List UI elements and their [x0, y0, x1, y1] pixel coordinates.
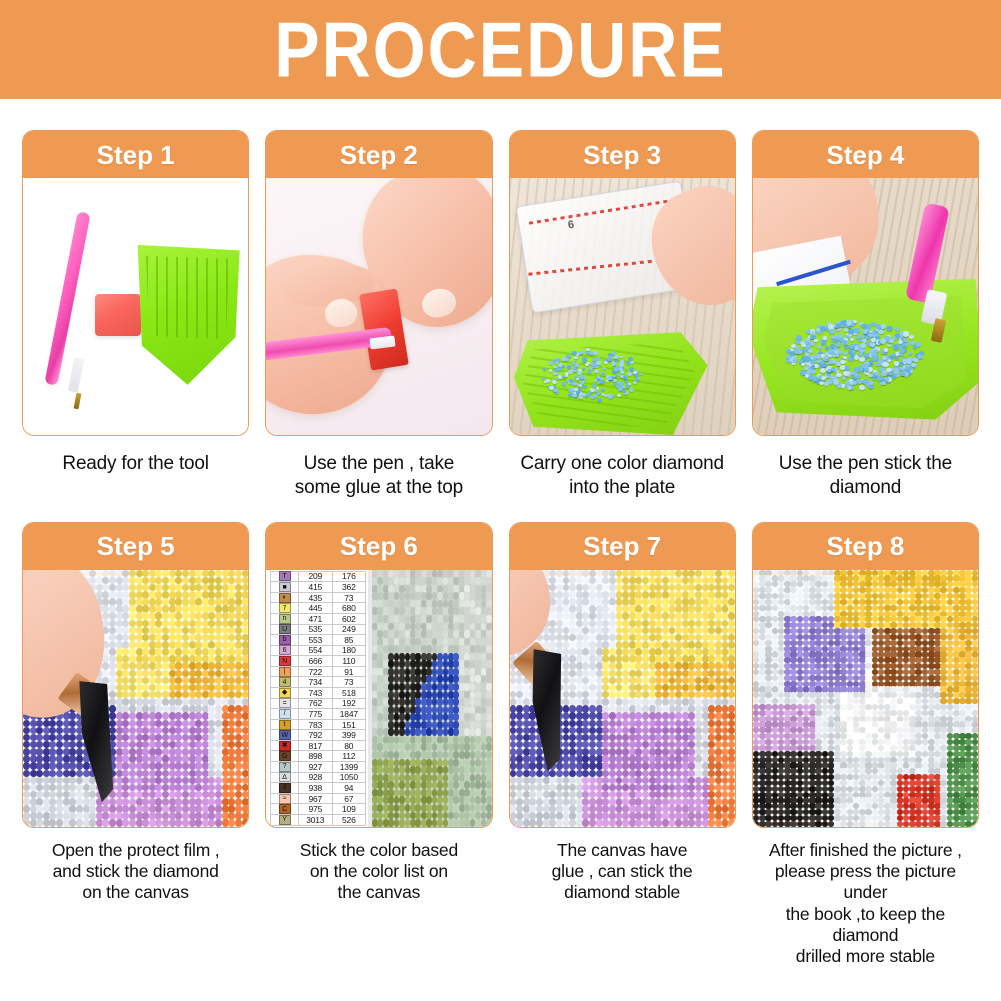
diamond-bead — [791, 344, 796, 348]
step-card-8[interactable]: Step 8 — [752, 522, 979, 828]
diamond-bead — [848, 329, 853, 333]
diamond-bead — [858, 352, 863, 356]
diamond-bead — [811, 370, 817, 375]
step-header-label-4: Step 4 — [826, 142, 904, 168]
canvas-bead — [486, 645, 491, 653]
diamond-bead — [602, 367, 606, 370]
diamond-bead — [800, 370, 806, 375]
canvas-bead — [182, 720, 189, 728]
color-symbol-cell: 3 — [270, 783, 299, 793]
place-diamond-photo — [23, 570, 248, 827]
pen-tip-icon — [68, 357, 84, 392]
tool-photo — [23, 178, 248, 435]
canvas-bead — [728, 670, 735, 678]
diamond-bead — [568, 370, 573, 374]
diamond-bead — [842, 376, 846, 380]
dmc-code-cell: 209 — [299, 572, 333, 582]
dmc-code-cell: 445 — [299, 603, 333, 613]
canvas-bead — [662, 620, 669, 628]
color-list-row: ◐43573 — [270, 593, 366, 604]
step-header-5: Step 5 — [23, 523, 248, 570]
diamond-bead — [793, 358, 798, 362]
diamond-bead — [794, 349, 800, 354]
color-symbol-cell: Y — [270, 815, 299, 825]
canvas-bead — [695, 662, 702, 670]
canvas-bead — [662, 570, 669, 578]
canvas-bead — [589, 819, 596, 826]
canvas-bead — [129, 670, 136, 678]
canvas-bead — [662, 612, 669, 620]
color-list-row: ≈96767 — [270, 794, 366, 805]
diamond-bead — [901, 372, 905, 376]
canvas-bead — [182, 819, 189, 826]
canvas-bead — [765, 640, 772, 646]
dmc-code-cell: 975 — [299, 804, 333, 814]
color-swatch: 7 — [279, 603, 291, 613]
bead-count-cell: 180 — [333, 646, 367, 656]
canvas-bead — [556, 819, 563, 826]
diamond-bead — [585, 395, 588, 398]
diamond-bead — [859, 385, 865, 390]
diamond-bead — [627, 372, 632, 376]
diamond-bead — [801, 343, 806, 347]
canvas-bead — [609, 612, 616, 620]
step-card-1[interactable]: Step 1 — [22, 130, 249, 436]
diamond-bead — [903, 331, 909, 336]
canvas-bead — [242, 720, 249, 728]
canvas-bead — [765, 605, 772, 611]
diamond-bead — [843, 351, 848, 355]
diamond-bead — [604, 394, 608, 397]
canvas-bead — [609, 712, 616, 720]
canvas-bead — [589, 612, 596, 620]
step-cell-7: Step 7 The canvas have glue , can stick … — [501, 522, 744, 968]
bead-count-cell: 680 — [333, 603, 367, 613]
step-card-2[interactable]: Step 2 — [265, 130, 492, 436]
step-cell-1: Step 1 Ready for the tool — [14, 130, 257, 501]
diamond-bead — [592, 384, 596, 388]
canvas-bead — [609, 670, 616, 678]
canvas-bead — [609, 570, 616, 578]
step-card-3[interactable]: Step 3 6 — [509, 130, 736, 436]
diamond-bead — [606, 379, 609, 382]
bead-count-cell: 249 — [333, 625, 367, 635]
canvas-bead — [76, 770, 83, 778]
diamond-bead — [816, 359, 821, 363]
bead-count-cell: 518 — [333, 688, 367, 698]
diamond-bead — [596, 366, 599, 369]
diamond-bead — [870, 342, 875, 346]
canvas-bead — [129, 620, 136, 628]
diamond-bead — [829, 360, 833, 363]
canvas-bead — [129, 570, 136, 578]
diamond-bead — [859, 357, 865, 362]
canvas-bead — [715, 612, 722, 620]
bead-count-cell: 73 — [333, 593, 367, 603]
color-swatch: Y — [279, 815, 291, 825]
canvas-bead — [486, 819, 491, 827]
canvas-bead — [235, 612, 242, 620]
color-list-row: W792399 — [270, 730, 366, 741]
canvas-bead — [536, 762, 543, 770]
step-header-label-7: Step 7 — [583, 533, 661, 559]
canvas-bead — [486, 577, 491, 585]
color-symbol-cell: C — [270, 804, 299, 814]
step-card-4[interactable]: Step 4 — [752, 130, 979, 436]
color-list-row: ✖81780 — [270, 741, 366, 752]
diamond-bead — [574, 359, 577, 362]
canvas-bead — [486, 683, 491, 691]
step-header-label-8: Step 8 — [826, 533, 904, 559]
canvas-bead — [76, 819, 83, 826]
canvas-mosaic — [372, 570, 491, 827]
diamond-bead — [601, 388, 605, 391]
diamond-bead — [582, 368, 585, 371]
canvas-bead — [536, 819, 543, 826]
canvas-bead — [589, 620, 596, 628]
diamond-bead — [633, 381, 637, 384]
diamond-bead — [840, 360, 845, 364]
diamond-bead — [596, 357, 601, 361]
color-symbol-cell: U — [270, 625, 299, 635]
canvas-bead — [972, 640, 978, 646]
color-symbol-cell: b — [270, 635, 299, 645]
bead-count-cell: 1050 — [333, 773, 367, 783]
canvas-bead — [556, 620, 563, 628]
diamond-bead — [850, 338, 855, 342]
diamond-bead — [634, 374, 638, 377]
dmc-code-cell: 927 — [299, 762, 333, 772]
steps-row-top: Step 1 Ready for the tool — [14, 130, 987, 501]
color-list-row: n471602 — [270, 614, 366, 625]
diamond-bead — [810, 359, 815, 364]
diamond-bead — [549, 361, 553, 364]
dmc-code-cell: 775 — [299, 709, 333, 719]
color-list-row: Δ9281050 — [270, 773, 366, 784]
step-cell-6: Step 6 T209176■415362◐435737445680n47160… — [257, 522, 500, 968]
canvas-bead — [972, 605, 978, 611]
steps-grid: Step 1 Ready for the tool — [0, 130, 1001, 968]
color-symbol-cell: ? — [270, 762, 299, 772]
diamond-bead — [617, 394, 621, 397]
canvas-bead — [695, 620, 702, 628]
diamond-bead — [815, 354, 821, 359]
canvas-bead — [815, 605, 822, 611]
diamond-bead — [836, 373, 842, 378]
canvas-bead — [486, 713, 491, 721]
canvas-bead — [890, 675, 897, 681]
diamond-bead — [833, 379, 839, 384]
canvas-bead — [642, 770, 649, 778]
step-image-2 — [266, 178, 491, 435]
canvas-bead — [556, 770, 563, 778]
diamond-bead — [566, 354, 571, 358]
diamond-bead — [817, 345, 823, 350]
canvas-bead — [728, 762, 735, 770]
color-swatch: W — [279, 730, 291, 740]
diamond-bead — [579, 395, 583, 398]
color-symbol-cell: | — [270, 667, 299, 677]
page-banner: PROCEDURE — [0, 0, 1001, 99]
step-card-7[interactable]: Step 7 — [509, 522, 736, 828]
color-symbol-cell: ✖ — [270, 741, 299, 751]
color-symbol-cell: 7 — [270, 603, 299, 613]
bead-count-cell: 67 — [333, 794, 367, 804]
canvas-bead — [556, 762, 563, 770]
color-swatch: ◆ — [279, 688, 291, 698]
diamond-bead — [619, 356, 623, 359]
canvas-bead — [129, 770, 136, 778]
canvas-bead — [790, 640, 797, 646]
color-swatch: Δ — [279, 772, 291, 782]
diamond-bead — [630, 361, 634, 364]
canvas-bead — [815, 640, 822, 646]
canvas-bead — [129, 662, 136, 670]
diamond-bead — [590, 388, 595, 392]
bead-count-cell: 109 — [333, 804, 367, 814]
canvas-bead — [242, 662, 249, 670]
color-swatch: / — [279, 709, 291, 719]
color-list-row: U535249 — [270, 625, 366, 636]
canvas-bead — [129, 762, 136, 770]
color-list-row: N666110 — [270, 656, 366, 667]
canvas-bead — [865, 675, 872, 681]
canvas-bead — [715, 570, 722, 578]
diamond-bead — [597, 398, 602, 402]
step-header-label-3: Step 3 — [583, 142, 661, 168]
step-image-4 — [753, 178, 978, 435]
canvas-bead — [642, 720, 649, 728]
dmc-code-cell: 734 — [299, 677, 333, 687]
canvas-bead — [840, 605, 847, 611]
diamond-bead — [607, 376, 612, 380]
color-list-row: T209176 — [270, 571, 366, 583]
diamond-bead — [895, 327, 900, 331]
bead-count-cell: 73 — [333, 677, 367, 687]
dmc-code-cell: 967 — [299, 794, 333, 804]
color-swatch: ? — [279, 762, 291, 772]
canvas-bead — [840, 675, 847, 681]
canvas-bead — [728, 770, 735, 778]
step-cell-2: Step 2 Use the pen , — [257, 130, 500, 501]
diamond-bead — [574, 356, 578, 359]
glue-photo — [266, 178, 491, 435]
canvas-bead — [23, 720, 30, 728]
steps-row-bottom: Step 5 Open the protect film , and stick… — [14, 522, 987, 968]
canvas-bead — [715, 720, 722, 728]
diamond-bead — [913, 358, 919, 363]
bead-count-cell: 602 — [333, 614, 367, 624]
diamond-bead — [594, 369, 599, 373]
diamond-bead — [831, 367, 835, 371]
bead-count-cell: 362 — [333, 582, 367, 592]
color-swatch: 6 — [279, 645, 291, 655]
diamond-bead — [823, 336, 828, 340]
bead-count-cell: 399 — [333, 730, 367, 740]
step-image-6: T209176■415362◐435737445680n471602U53524… — [266, 570, 491, 827]
green-tray-icon — [136, 245, 240, 385]
color-swatch: ■ — [279, 582, 291, 592]
diamond-bead — [882, 362, 888, 367]
dmc-code-cell: 3013 — [299, 815, 333, 825]
diamond-bead — [571, 388, 574, 391]
diamond-bead — [908, 352, 912, 355]
step-image-8 — [753, 570, 978, 827]
diamond-bead — [821, 363, 826, 367]
canvas-bead — [76, 762, 83, 770]
diamond-bead — [543, 368, 546, 371]
step-caption-6: Stick the color based on the color list … — [300, 840, 458, 904]
diamond-bead — [886, 368, 891, 372]
diamond-bead — [821, 340, 826, 344]
diamond-bead — [875, 363, 880, 367]
color-list-row: C975109 — [270, 804, 366, 815]
canvas-bead — [715, 670, 722, 678]
canvas-bead — [235, 762, 242, 770]
color-list-row: =762192 — [270, 699, 366, 710]
canvas-bead — [486, 781, 491, 789]
diamond-bead — [895, 333, 900, 337]
diamond-bead — [830, 344, 835, 348]
step-caption-4: Use the pen stick the diamond — [779, 452, 952, 501]
canvas-bead — [728, 662, 735, 670]
canvas-bead — [642, 662, 649, 670]
canvas-bead — [728, 720, 735, 728]
color-symbol-cell: 4 — [270, 677, 299, 687]
diamond-bead — [835, 324, 840, 328]
diamond-bead — [601, 372, 606, 376]
diamond-bead — [567, 365, 572, 369]
canvas-bead — [235, 620, 242, 628]
step-header-6: Step 6 — [266, 523, 491, 570]
diamond-bead — [849, 344, 855, 349]
dmc-code-cell: 743 — [299, 688, 333, 698]
color-swatch: ≈ — [279, 794, 291, 804]
color-symbol-cell: ◆ — [270, 688, 299, 698]
canvas-bead — [235, 570, 242, 578]
canvas-bead — [642, 762, 649, 770]
diamond-bead — [635, 378, 639, 381]
diamond-bead — [917, 354, 922, 359]
pour-beads-photo: 6 — [510, 178, 735, 435]
color-list-row: 6554180 — [270, 646, 366, 657]
color-symbol-cell: t — [270, 720, 299, 730]
diamond-bead — [850, 353, 855, 357]
step-header-label-2: Step 2 — [340, 142, 418, 168]
diamond-bead — [913, 345, 918, 349]
canvas-bead — [695, 712, 702, 720]
color-swatch: ✖ — [279, 741, 291, 751]
diamond-bead — [880, 339, 886, 344]
step-header-label-1: Step 1 — [97, 142, 175, 168]
color-list-row: b55385 — [270, 635, 366, 646]
bead-count-cell: 151 — [333, 720, 367, 730]
canvas-bead — [129, 712, 136, 720]
step-header-3: Step 3 — [510, 131, 735, 178]
dmc-code-cell: 817 — [299, 741, 333, 751]
diamond-bead — [556, 367, 561, 371]
page-title: PROCEDURE — [274, 10, 727, 88]
step-cell-4: Step 4 — [744, 130, 987, 501]
diamond-bead — [895, 356, 899, 360]
diamond-bead — [614, 355, 618, 358]
step-caption-1: Ready for the tool — [62, 452, 208, 476]
canvas-bead — [182, 762, 189, 770]
bead-count-cell: 110 — [333, 656, 367, 666]
step-card-5[interactable]: Step 5 — [22, 522, 249, 828]
canvas-bead — [182, 712, 189, 720]
step-card-6[interactable]: Step 6 T209176■415362◐435737445680n47160… — [265, 522, 492, 828]
color-list-row: t783151 — [270, 720, 366, 731]
canvas-bead — [715, 770, 722, 778]
canvas-bead — [486, 698, 491, 706]
canvas-bead — [728, 712, 735, 720]
diamond-bead — [608, 353, 612, 356]
diamond-bead — [831, 335, 836, 339]
color-list-row: Y3013526 — [270, 815, 366, 826]
diamond-bead — [580, 351, 584, 355]
canvas-bead — [23, 770, 30, 778]
canvas-bead — [662, 770, 669, 778]
diamond-bead — [836, 344, 840, 347]
color-list-table: T209176■415362◐435737445680n471602U53524… — [266, 570, 368, 827]
step-cell-5: Step 5 Open the protect film , and stick… — [14, 522, 257, 968]
diamond-bead — [864, 368, 869, 372]
step-header-8: Step 8 — [753, 523, 978, 570]
color-symbol-cell: G — [270, 751, 299, 761]
diamond-bead — [820, 326, 826, 331]
step-header-2: Step 2 — [266, 131, 491, 178]
canvas-bead — [815, 675, 822, 681]
step-header-4: Step 4 — [753, 131, 978, 178]
canvas-bead — [890, 640, 897, 646]
step-cell-3: Step 3 6 — [501, 130, 744, 501]
canvas-bead — [695, 819, 702, 826]
canvas-bead — [662, 819, 669, 826]
canvas-bead — [609, 770, 616, 778]
diamond-bead — [562, 382, 566, 385]
canvas-bead — [589, 770, 596, 778]
canvas-bead — [609, 762, 616, 770]
diamond-bead — [898, 340, 903, 344]
canvas-bead — [556, 612, 563, 620]
dmc-code-cell: 435 — [299, 593, 333, 603]
dmc-code-cell: 783 — [299, 720, 333, 730]
canvas-bead — [609, 720, 616, 728]
canvas-bead — [695, 720, 702, 728]
color-swatch: | — [279, 667, 291, 677]
color-list-row: |72291 — [270, 667, 366, 678]
color-symbol-cell: 6 — [270, 646, 299, 656]
bead-count-cell: 176 — [333, 572, 367, 582]
dmc-code-cell: 666 — [299, 656, 333, 666]
step-image-5 — [23, 570, 248, 827]
color-symbol-cell: T — [270, 572, 299, 582]
pick-diamond-photo — [753, 178, 978, 435]
diamond-bead — [820, 368, 826, 373]
canvas-bead — [486, 751, 491, 759]
diamond-bead — [614, 368, 618, 371]
diamond-bead — [549, 369, 552, 372]
diamond-bead — [886, 326, 892, 331]
step-header-1: Step 1 — [23, 131, 248, 178]
diamond-bead — [829, 329, 835, 334]
canvas-bead — [695, 762, 702, 770]
color-list-row: 393894 — [270, 783, 366, 794]
step-image-3: 6 — [510, 178, 735, 435]
diamond-bead — [893, 345, 899, 350]
diamond-bead — [814, 339, 818, 342]
